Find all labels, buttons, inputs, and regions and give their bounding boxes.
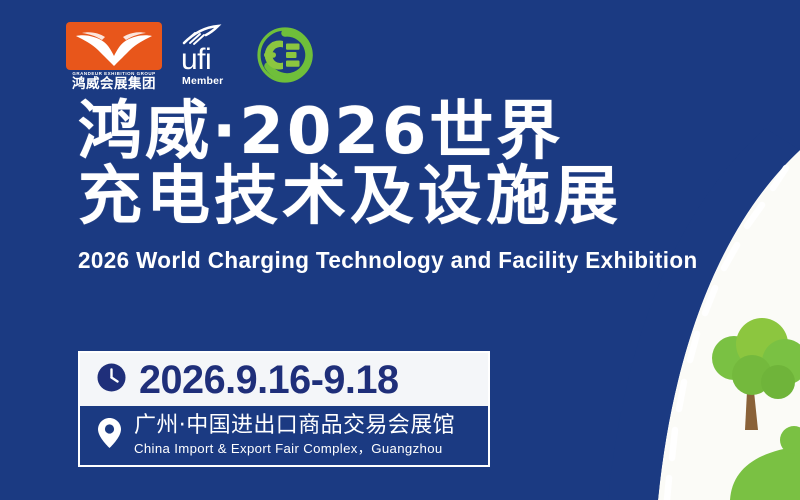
grandeur-chinese-name: 鸿威会展集团 (66, 76, 162, 92)
wing-w-mark-icon (66, 22, 162, 70)
ufi-logo[interactable]: ufi Member (180, 22, 238, 87)
grass-icon (676, 446, 800, 500)
exhibition-poster: GRANDEUR EXHIBITION GROUP 鸿威会展集团 ufi Mem… (0, 0, 800, 500)
ufi-member-label: Member (180, 75, 238, 87)
ce-logo[interactable] (256, 22, 314, 89)
grandeur-english-name: GRANDEUR EXHIBITION GROUP (65, 72, 163, 76)
headline-block: 鸿威·2026世界 充电技术及设施展 2026 World Charging T… (78, 100, 718, 274)
event-info-card: 2026.9.16-9.18 广州·中国进出口商品交易会展馆 China Imp… (78, 351, 490, 467)
logo-row: GRANDEUR EXHIBITION GROUP 鸿威会展集团 ufi Mem… (66, 22, 314, 96)
title-chinese-line1: 鸿威·2026世界 (78, 100, 718, 165)
venue-strip: 广州·中国进出口商品交易会展馆 China Import & Export Fa… (80, 406, 488, 465)
date-strip: 2026.9.16-9.18 (80, 353, 488, 406)
venue-chinese: 广州·中国进出口商品交易会展馆 (134, 413, 455, 438)
title-chinese-line2: 充电技术及设施展 (78, 165, 718, 230)
title-english: 2026 World Charging Technology and Facil… (78, 247, 689, 274)
grandeur-logo[interactable]: GRANDEUR EXHIBITION GROUP 鸿威会展集团 (66, 22, 162, 93)
ufi-wordmark: ufi (180, 46, 238, 74)
venue-english: China Import & Export Fair Complex，Guang… (134, 441, 455, 457)
ce-plug-circle-icon (256, 26, 314, 84)
tree-icon (712, 318, 800, 430)
clock-icon (96, 362, 127, 398)
event-date: 2026.9.16-9.18 (139, 360, 399, 400)
map-pin-icon (96, 416, 123, 455)
ufi-swoosh-icon (180, 24, 238, 46)
shrub-icon (780, 426, 800, 454)
